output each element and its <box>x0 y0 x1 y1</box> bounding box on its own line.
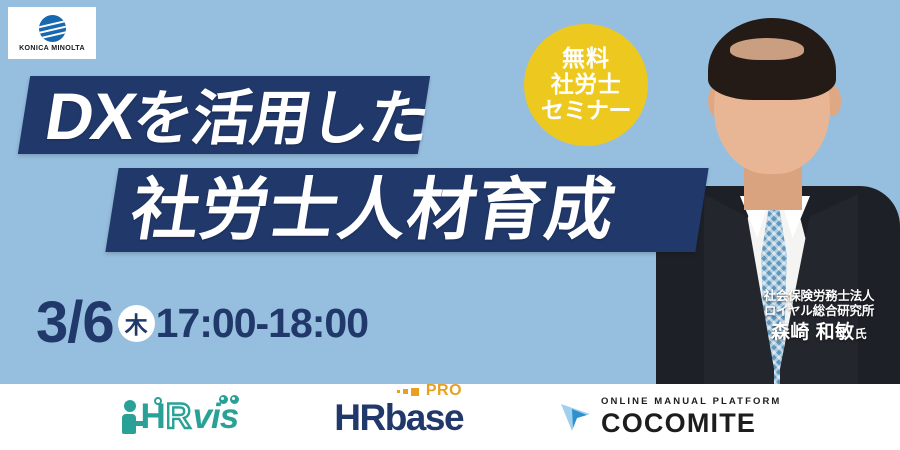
eye-icon-left <box>219 395 228 404</box>
title-line-1-suffix: を活用した <box>128 85 434 152</box>
hrvis-letter-h: H <box>141 400 165 434</box>
badge-line-seminar: セミナー <box>541 98 631 124</box>
konica-minolta-wordmark: KONICA MINOLTA <box>19 44 85 52</box>
cocomite-logo: ONLINE MANUAL PLATFORM COCOMITE <box>559 397 781 438</box>
hrbase-pro-logo: PRO HRbase <box>334 399 463 436</box>
speaker-name-text: 森崎 和敏 <box>771 322 855 343</box>
event-time: 17:00-18:00 <box>156 303 368 344</box>
badge-line-sharoushi: 社労士 <box>551 72 622 98</box>
schedule-row: 3/6 木 17:00-18:00 <box>36 294 368 352</box>
event-weekday: 木 <box>118 305 155 342</box>
hrvis-letters-vis: vis <box>193 400 239 434</box>
free-seminar-badge: 無料 社労士 セミナー <box>524 24 648 146</box>
cocomite-tagline: ONLINE MANUAL PLATFORM <box>601 397 781 407</box>
cocomite-wordmark: COCOMITE <box>601 410 781 437</box>
speaker-org-line-2: ロイヤル総合研究所 <box>744 304 894 319</box>
globe-icon <box>39 15 66 42</box>
speaker-name-suffix: 氏 <box>855 327 868 341</box>
konica-minolta-logo: KONICA MINOLTA <box>8 7 96 59</box>
hrbase-pro-badge: PRO <box>426 382 462 400</box>
speaker-name: 森崎 和敏氏 <box>744 321 894 344</box>
hrbase-wordmark: HRbase <box>334 399 463 436</box>
title-dx-text: DX <box>40 79 139 153</box>
eyes-icon <box>219 395 239 404</box>
hrvis-logo: H R vis <box>119 400 239 434</box>
title-line-1: DXを活用した <box>41 84 434 151</box>
photo-hair <box>708 18 836 100</box>
title-line-2: 社労士人材育成 <box>126 174 620 246</box>
speaker-org-line-1: 社会保険労務士法人 <box>744 289 894 304</box>
event-date: 3/6 <box>36 294 114 352</box>
speaker-caption: 社会保険労務士法人 ロイヤル総合研究所 森崎 和敏氏 <box>744 289 894 344</box>
badge-line-free: 無料 <box>562 46 610 72</box>
squares-icon <box>397 388 419 396</box>
eye-icon-right <box>230 395 239 404</box>
person-icon-head <box>124 400 136 412</box>
partner-logo-row: H R vis PRO HRbase ONLINE MANUAL PLATFOR… <box>0 384 900 450</box>
square-icon-small <box>397 390 400 393</box>
hrvis-dot-icon <box>154 397 162 405</box>
cursor-icon <box>559 401 593 433</box>
square-icon-medium <box>403 389 408 394</box>
square-icon-large <box>411 388 419 396</box>
seminar-banner: KONICA MINOLTA 無料 社労士 セミナー DXを活用した 社労士人材… <box>0 0 900 450</box>
cocomite-text-block: ONLINE MANUAL PLATFORM COCOMITE <box>601 397 781 438</box>
cursor-icon-svg <box>559 401 593 433</box>
hrvis-letter-r: R <box>166 400 191 434</box>
